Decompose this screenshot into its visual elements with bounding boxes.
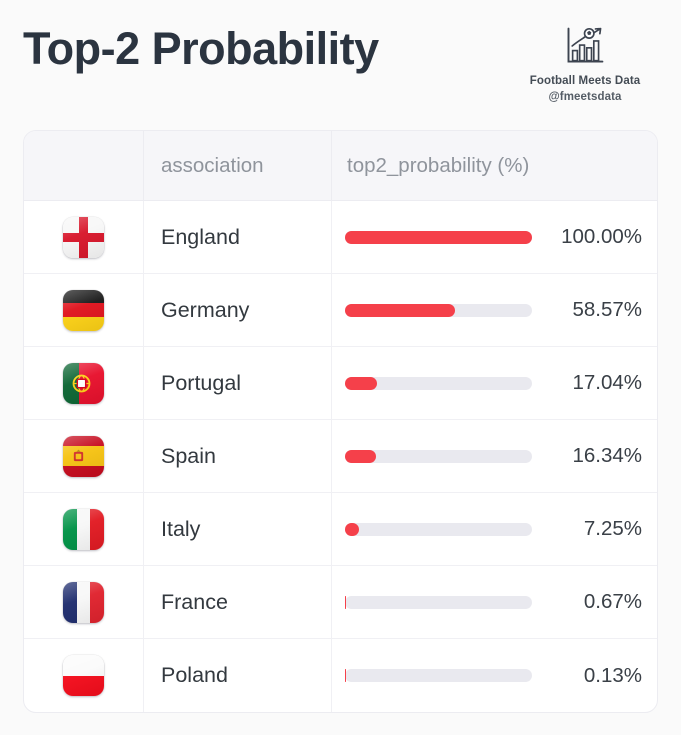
cell-flag xyxy=(24,420,144,492)
probability-track xyxy=(345,669,532,682)
flag-italy-icon xyxy=(63,509,104,550)
probability-value: 0.67% xyxy=(532,590,644,614)
flag-england-icon xyxy=(63,217,104,258)
probability-track xyxy=(345,450,532,463)
probability-fill xyxy=(345,596,346,609)
cell-association: Portugal xyxy=(144,347,332,419)
table-row[interactable]: Spain 16.34% xyxy=(24,420,657,493)
association-label: Spain xyxy=(161,444,216,469)
probability-fill xyxy=(345,231,532,244)
cell-association: France xyxy=(144,566,332,638)
probability-track xyxy=(345,523,532,536)
column-header-probability: top2_probability (%) xyxy=(345,154,529,178)
probability-value: 17.04% xyxy=(532,371,644,395)
cell-probability: 16.34% xyxy=(332,420,657,492)
association-label: England xyxy=(161,225,240,250)
column-header-association: association xyxy=(161,154,264,178)
association-label: Portugal xyxy=(161,371,241,396)
cell-probability: 58.57% xyxy=(332,274,657,346)
association-label: Poland xyxy=(161,663,228,688)
cell-probability: 0.13% xyxy=(332,639,657,712)
probability-track xyxy=(345,596,532,609)
probability-value: 0.13% xyxy=(532,664,644,688)
cell-probability: 7.25% xyxy=(332,493,657,565)
probability-value: 58.57% xyxy=(532,298,644,322)
cell-flag xyxy=(24,347,144,419)
association-label: Italy xyxy=(161,517,200,542)
header: Top-2 Probability Football Meets Data @f… xyxy=(0,0,681,130)
brand-name: Football Meets Data xyxy=(512,74,658,90)
probability-fill xyxy=(345,377,377,390)
table-header-row: association top2_probability (%) xyxy=(24,131,657,201)
probability-track xyxy=(345,231,532,244)
flag-portugal-icon xyxy=(63,363,104,404)
probability-table: association top2_probability (%) England xyxy=(23,130,658,713)
association-label: Germany xyxy=(161,298,249,323)
probability-fill xyxy=(345,304,455,317)
table-row[interactable]: Italy 7.25% xyxy=(24,493,657,566)
cell-flag xyxy=(24,566,144,638)
probability-fill xyxy=(345,523,359,536)
probability-value: 16.34% xyxy=(532,444,644,468)
cell-association: Italy xyxy=(144,493,332,565)
probability-track xyxy=(345,304,532,317)
probability-value: 100.00% xyxy=(532,225,644,249)
flag-germany-icon xyxy=(63,290,104,331)
cell-association: England xyxy=(144,201,332,273)
page-title: Top-2 Probability xyxy=(23,24,379,74)
cell-association: Poland xyxy=(144,639,332,712)
table-row[interactable]: Germany 58.57% xyxy=(24,274,657,347)
table-row[interactable]: Portugal 17.04% xyxy=(24,347,657,420)
cell-flag xyxy=(24,274,144,346)
header-cell-flag xyxy=(24,131,144,200)
header-cell-probability: top2_probability (%) xyxy=(332,131,657,200)
table-row[interactable]: England 100.00% xyxy=(24,201,657,274)
association-label: France xyxy=(161,590,228,615)
cell-association: Germany xyxy=(144,274,332,346)
cell-probability: 17.04% xyxy=(332,347,657,419)
cell-flag xyxy=(24,493,144,565)
probability-fill xyxy=(345,450,376,463)
bar-chart-football-arrow-icon xyxy=(563,24,607,68)
infographic-root: Top-2 Probability Football Meets Data @f… xyxy=(0,0,681,735)
flag-poland-icon xyxy=(63,655,104,696)
table-row[interactable]: France 0.67% xyxy=(24,566,657,639)
flag-france-icon xyxy=(63,582,104,623)
probability-value: 7.25% xyxy=(532,517,644,541)
cell-probability: 100.00% xyxy=(332,201,657,273)
cell-association: Spain xyxy=(144,420,332,492)
cell-flag xyxy=(24,201,144,273)
cell-probability: 0.67% xyxy=(332,566,657,638)
cell-flag xyxy=(24,639,144,712)
brand-handle: @fmeetsdata xyxy=(512,90,658,106)
probability-track xyxy=(345,377,532,390)
header-cell-association: association xyxy=(144,131,332,200)
flag-spain-icon xyxy=(63,436,104,477)
brand-block: Football Meets Data @fmeetsdata xyxy=(512,24,658,105)
table-row[interactable]: Poland 0.13% xyxy=(24,639,657,712)
